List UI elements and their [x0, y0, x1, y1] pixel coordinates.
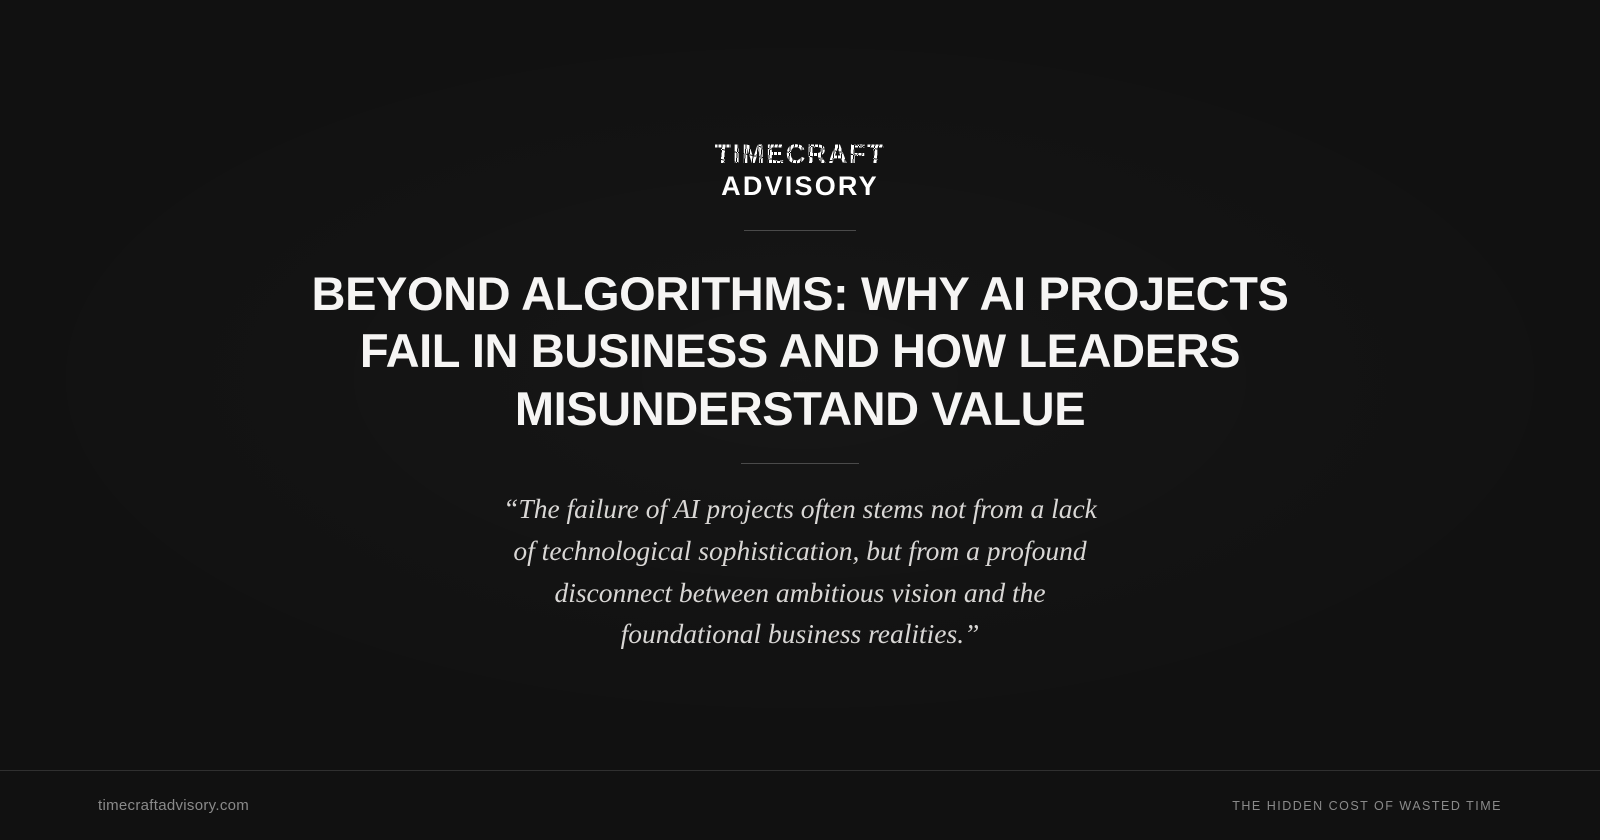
slide-content: TIMECRAFT ADVISORY BEYOND ALGORITHMS: WH…: [0, 0, 1600, 770]
title-slide: TIMECRAFT ADVISORY BEYOND ALGORITHMS: WH…: [0, 0, 1600, 840]
footer-website[interactable]: timecraftadvisory.com: [98, 797, 249, 814]
headline-line-2: FAIL IN BUSINESS AND HOW LEADERS: [280, 322, 1320, 379]
logo-divider: [744, 230, 856, 231]
headline-line-1: BEYOND ALGORITHMS: WHY AI PROJECTS: [280, 265, 1320, 322]
pull-quote: “The failure of AI projects often stems …: [420, 488, 1180, 655]
page-title: BEYOND ALGORITHMS: WHY AI PROJECTS FAIL …: [280, 265, 1320, 437]
brand-logo: TIMECRAFT ADVISORY: [715, 140, 885, 204]
logo-primary-text: TIMECRAFT: [715, 140, 885, 168]
footer-tagline: THE HIDDEN COST OF WASTED TIME: [1232, 799, 1502, 813]
headline-line-3: MISUNDERSTAND VALUE: [280, 380, 1320, 437]
quote-line-3: disconnect between ambitious vision and …: [420, 572, 1180, 614]
quote-line-1: “The failure of AI projects often stems …: [420, 488, 1180, 530]
quote-line-2: of technological sophistication, but fro…: [420, 530, 1180, 572]
slide-footer: timecraftadvisory.com THE HIDDEN COST OF…: [0, 770, 1600, 840]
quote-divider: [741, 463, 859, 464]
quote-line-4: foundational business realities.”: [420, 613, 1180, 655]
logo-secondary-text: ADVISORY: [721, 170, 879, 204]
